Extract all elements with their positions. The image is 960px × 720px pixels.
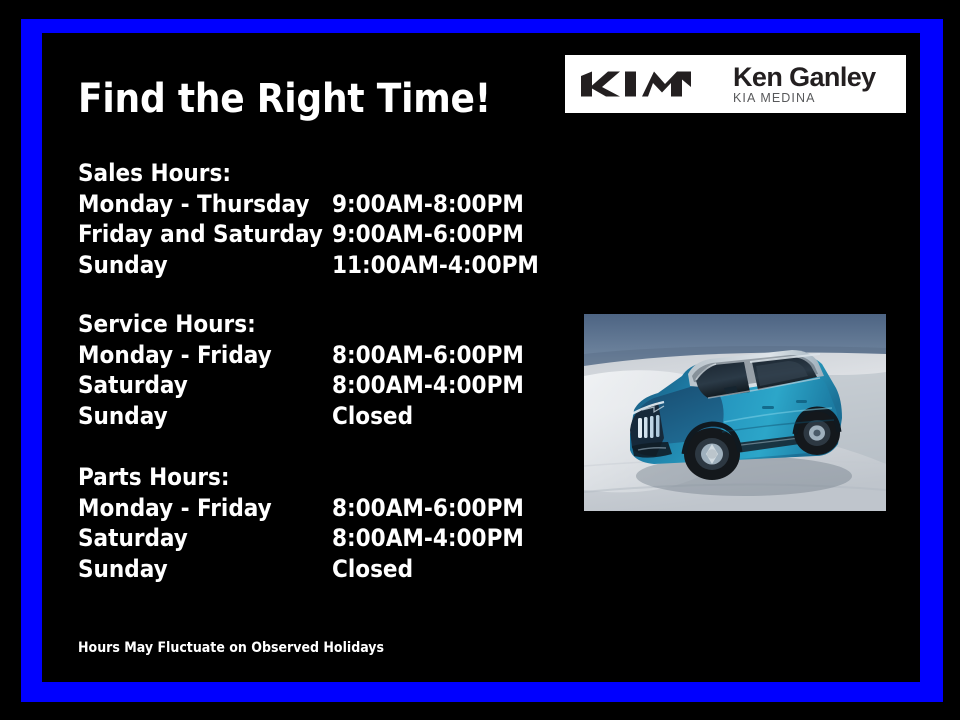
hours-row: Sunday Closed bbox=[78, 401, 524, 432]
hours-row-time: Closed bbox=[332, 554, 413, 585]
holidays-footnote: Hours May Fluctuate on Observed Holidays bbox=[78, 641, 384, 655]
hours-row-label: Sunday bbox=[78, 401, 332, 432]
hours-row: Sunday Closed bbox=[78, 554, 524, 585]
dealer-name-lockup: Ken Ganley KIA MEDINA bbox=[733, 63, 876, 106]
dealer-name-text: Ken Ganley bbox=[733, 63, 876, 91]
hours-row-time: 8:00AM-6:00PM bbox=[332, 340, 524, 371]
hours-row-label: Sunday bbox=[78, 554, 332, 585]
hours-row: Monday - Friday 8:00AM-6:00PM bbox=[78, 493, 524, 524]
service-hours-block: Service Hours: Monday - Friday 8:00AM-6:… bbox=[78, 309, 524, 431]
dealer-sub-text: KIA MEDINA bbox=[733, 91, 876, 106]
kia-ev9-vehicle-photo bbox=[584, 314, 886, 511]
hours-row: Monday - Friday 8:00AM-6:00PM bbox=[78, 340, 524, 371]
hours-row: Sunday 11:00AM-4:00PM bbox=[78, 250, 539, 281]
hours-row-time: 8:00AM-6:00PM bbox=[332, 493, 524, 524]
sales-hours-heading: Sales Hours: bbox=[78, 158, 539, 189]
slide-canvas: Find the Right Time! Sales Hours: Monday… bbox=[0, 0, 960, 720]
hours-row-label: Saturday bbox=[78, 523, 332, 554]
hours-row-label: Sunday bbox=[78, 250, 332, 281]
hours-row: Friday and Saturday 9:00AM-6:00PM bbox=[78, 219, 539, 250]
hours-row: Saturday 8:00AM-4:00PM bbox=[78, 370, 524, 401]
hours-row: Monday - Thursday 9:00AM-8:00PM bbox=[78, 189, 539, 220]
hours-row-time: 9:00AM-8:00PM bbox=[332, 189, 524, 220]
hours-row-time: 11:00AM-4:00PM bbox=[332, 250, 539, 281]
page-title: Find the Right Time! bbox=[78, 79, 491, 119]
hours-row-time: 8:00AM-4:00PM bbox=[332, 370, 524, 401]
kia-logo-icon bbox=[579, 69, 711, 99]
parts-hours-heading: Parts Hours: bbox=[78, 462, 524, 493]
hours-row-label: Monday - Friday bbox=[78, 340, 332, 371]
hours-row-label: Monday - Thursday bbox=[78, 189, 332, 220]
hours-row-time: Closed bbox=[332, 401, 413, 432]
hours-row: Saturday 8:00AM-4:00PM bbox=[78, 523, 524, 554]
hours-row-label: Friday and Saturday bbox=[78, 219, 332, 250]
hours-row-time: 9:00AM-6:00PM bbox=[332, 219, 524, 250]
sales-hours-block: Sales Hours: Monday - Thursday 9:00AM-8:… bbox=[78, 158, 539, 280]
service-hours-heading: Service Hours: bbox=[78, 309, 524, 340]
dealer-logo-lockup: Ken Ganley KIA MEDINA bbox=[565, 55, 906, 113]
parts-hours-block: Parts Hours: Monday - Friday 8:00AM-6:00… bbox=[78, 462, 524, 584]
hours-row-label: Monday - Friday bbox=[78, 493, 332, 524]
hours-row-label: Saturday bbox=[78, 370, 332, 401]
hours-row-time: 8:00AM-4:00PM bbox=[332, 523, 524, 554]
